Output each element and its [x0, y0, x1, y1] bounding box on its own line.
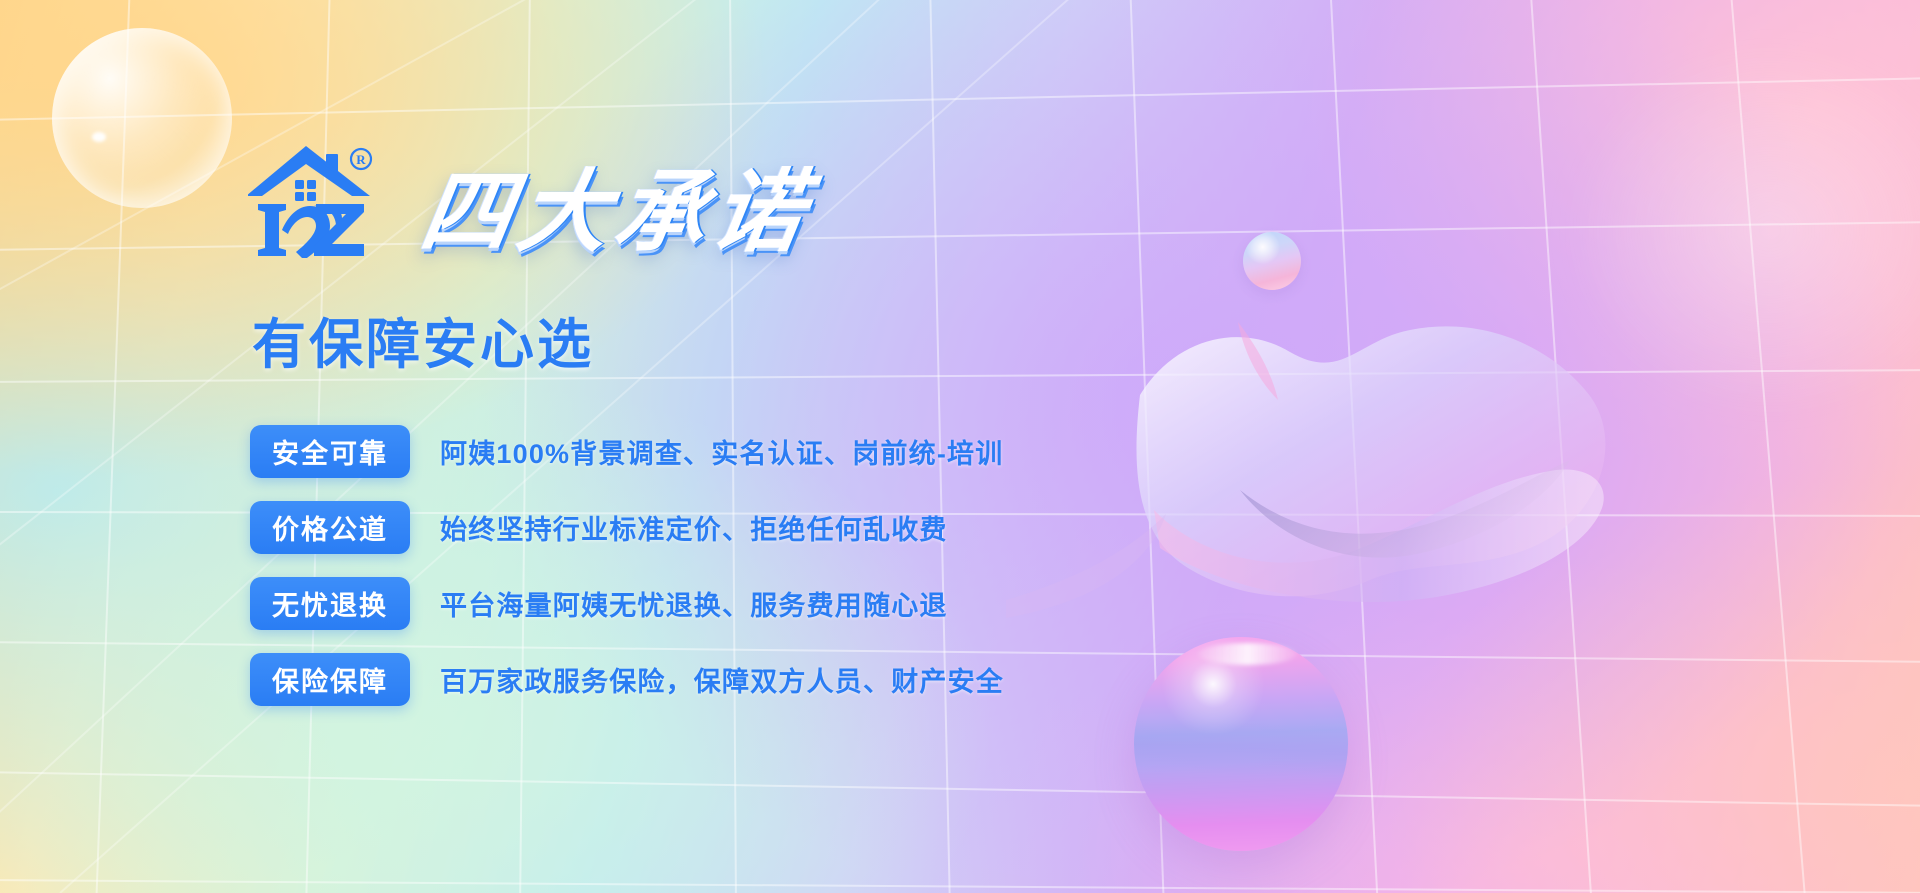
svg-text:R: R [356, 152, 366, 167]
status-badge: 保险保障 [250, 653, 410, 706]
feature-description: 平台海量阿姨无忧退换、服务费用随心退 [440, 584, 948, 623]
trademark-icon: R [351, 149, 371, 169]
status-badge: 价格公道 [250, 501, 410, 554]
brand-row: R 四大承诺 [248, 140, 810, 258]
status-badge: 安全可靠 [250, 425, 410, 478]
promo-banner: R 四大承诺 有保障安心选 安全可靠 阿姨100%背景调查、实名认证、岗前统-培… [0, 0, 1920, 893]
page-title: 四大承诺 [415, 168, 817, 258]
feature-list: 安全可靠 阿姨100%背景调查、实名认证、岗前统-培训 价格公道 始终坚持行业标… [250, 425, 1004, 706]
feature-description: 阿姨100%背景调查、实名认证、岗前统-培训 [440, 432, 1003, 471]
banner-content: R 四大承诺 有保障安心选 安全可靠 阿姨100%背景调查、实名认证、岗前统-培… [0, 0, 1920, 893]
list-item: 无忧退换 平台海量阿姨无忧退换、服务费用随心退 [250, 577, 1004, 630]
subtitle: 有保障安心选 [252, 318, 594, 372]
house-heart-logo-icon: R [248, 140, 376, 258]
status-badge: 无忧退换 [250, 577, 410, 630]
list-item: 保险保障 百万家政服务保险，保障双方人员、财产安全 [250, 653, 1004, 706]
feature-description: 始终坚持行业标准定价、拒绝任何乱收费 [440, 508, 948, 547]
list-item: 安全可靠 阿姨100%背景调查、实名认证、岗前统-培训 [250, 425, 1004, 478]
feature-description: 百万家政服务保险，保障双方人员、财产安全 [440, 660, 1004, 699]
list-item: 价格公道 始终坚持行业标准定价、拒绝任何乱收费 [250, 501, 1004, 554]
